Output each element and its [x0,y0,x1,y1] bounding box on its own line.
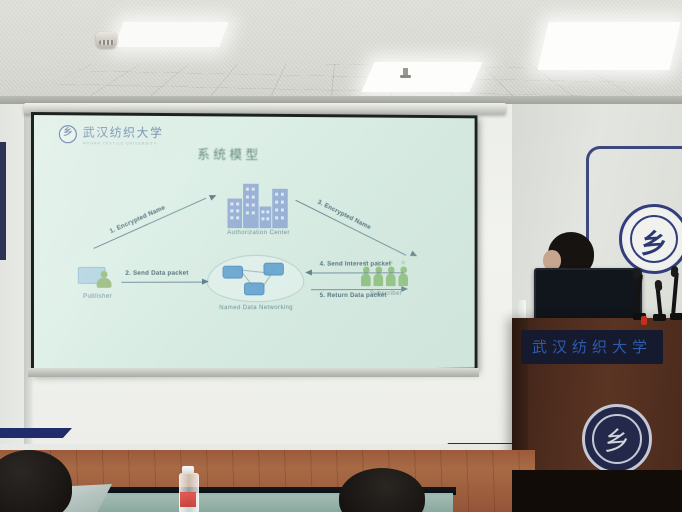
buildings-icon [260,206,272,228]
microphone-base [653,314,666,321]
flow-arrow-3 [295,200,406,256]
ceiling-panel-light [361,62,482,92]
ndn-cloud-node [207,255,304,303]
router-icon [223,266,243,279]
flow-arrow-4 [311,272,403,273]
microphone-head-icon [654,280,662,292]
podium-name-plate: 武汉纺织大学 [521,330,663,364]
flow-label-4: 4. Send Interest packet [320,261,391,268]
publisher-node [78,263,118,291]
authorization-center-node [227,179,287,228]
door-frame-edge [0,142,6,260]
bottle-label [180,492,196,507]
water-bottle [178,466,198,512]
podium-university-emblem [582,404,652,474]
buildings-icon [227,199,242,229]
podium-indicator-light [641,316,647,325]
presentation-slide: 武汉纺织大学 WUHAN TEXTILE UNIVERSITY 系统模型 [34,115,475,371]
flow-label-5: 5. Return Data packet [320,292,387,299]
university-wall-emblem [619,204,682,274]
flow-arrow-2 [121,282,204,283]
authorization-center-label: Authorization Center [210,229,307,236]
foreground-shadow [512,470,682,512]
ceiling [0,0,682,104]
projector-screen-bottom-bar [28,368,479,377]
wall-accent-stripe [0,428,72,438]
buildings-icon [272,189,288,228]
buildings-icon [243,184,259,228]
system-model-diagram: Authorization Center Publisher [34,115,475,371]
flow-label-2: 2. Send Data packet [125,270,188,277]
bottle-cap [182,466,194,474]
ndn-label: Named Data Networking [200,304,312,311]
sprinkler-head-icon [403,68,408,78]
projection-screen: 武汉纺织大学 WUHAN TEXTILE UNIVERSITY 系统模型 [31,112,477,374]
publisher-label: Publisher [68,293,127,300]
ceiling-panel-light [114,22,228,47]
smoke-detector-icon [96,32,117,48]
person-icon [97,271,112,288]
microphone-base [670,313,682,320]
router-icon [263,263,283,276]
podium-name-text: 武汉纺织大学 [521,336,663,357]
flow-arrow-1 [93,198,206,249]
lecture-room-photo: 武汉纺织大学 WUHAN TEXTILE UNIVERSITY 系统模型 [0,0,682,512]
router-icon [244,282,264,295]
ceiling-panel-light [537,22,680,70]
